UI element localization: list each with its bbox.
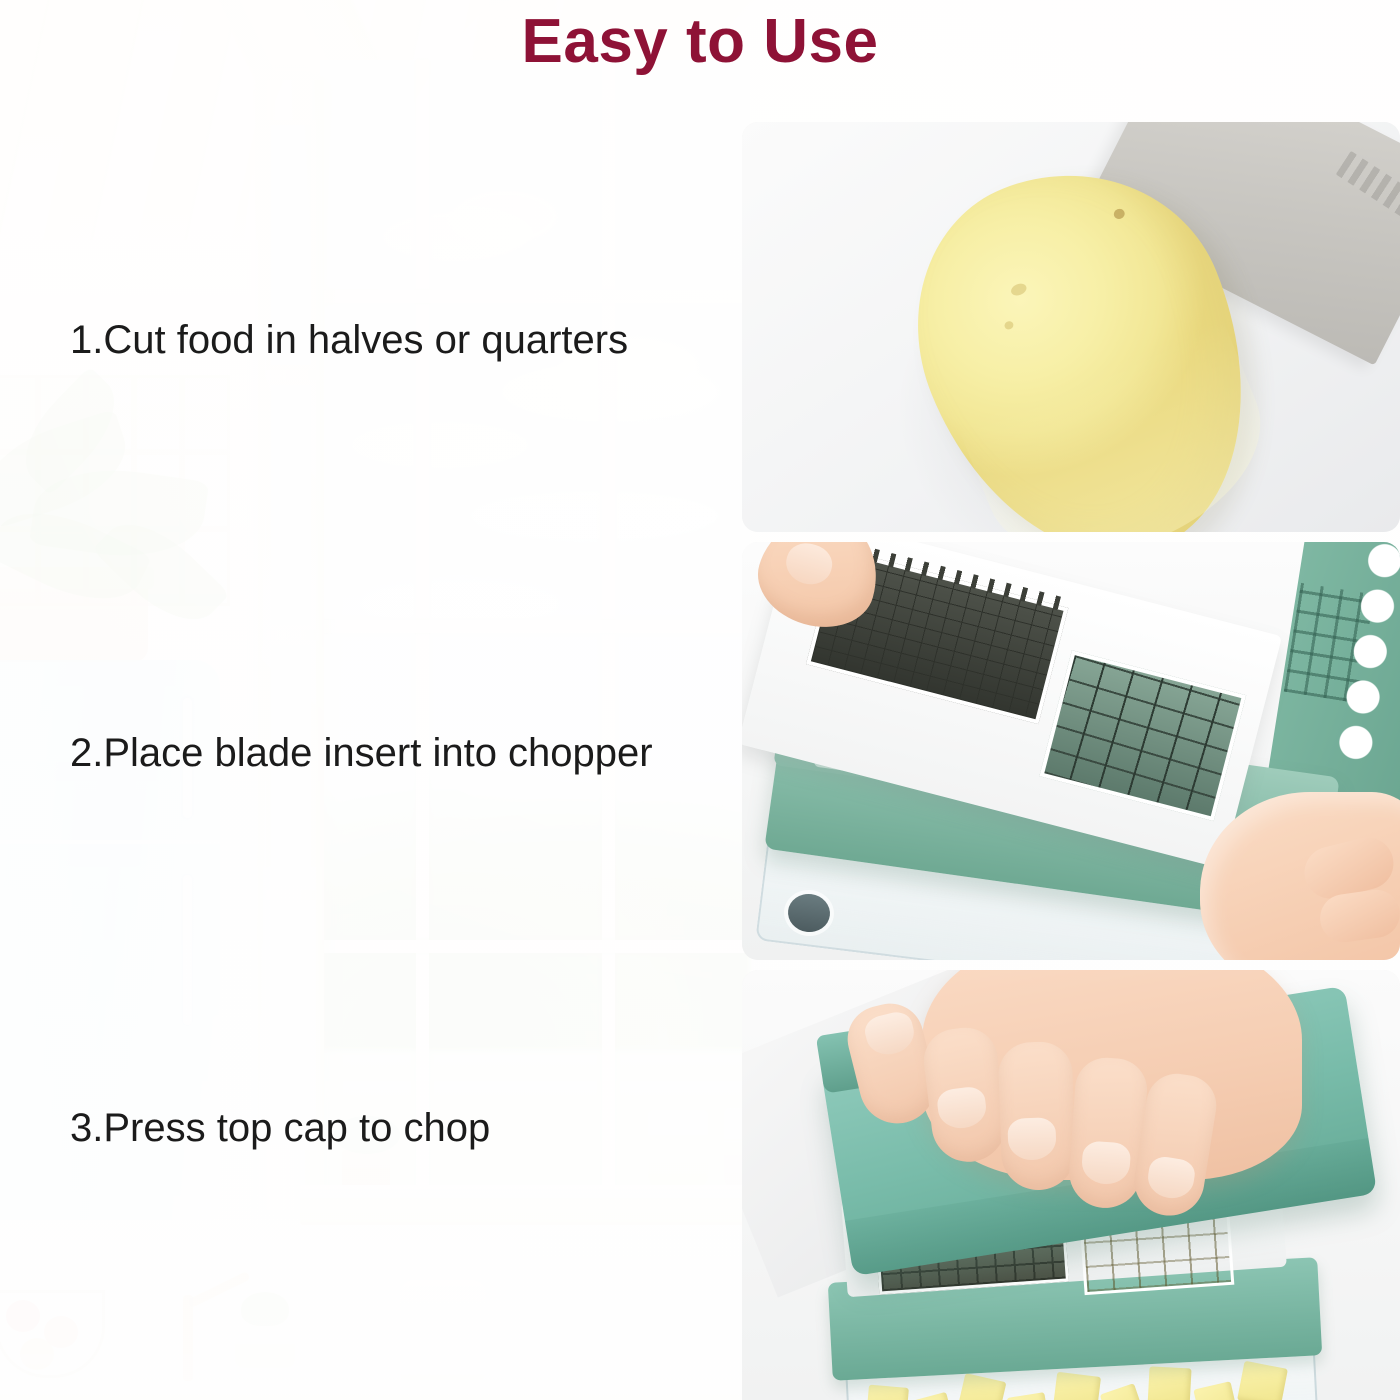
- diced-potato-cube: [865, 1385, 909, 1400]
- diced-potato-cube: [1193, 1381, 1239, 1400]
- diced-potato-cube: [1007, 1392, 1051, 1400]
- step-1-label: 1.Cut food in halves or quarters: [70, 318, 628, 363]
- infographic-content: Easy to Use 1.Cut food in halves or quar…: [0, 0, 1400, 1400]
- finger: [997, 1041, 1076, 1191]
- diced-potato-cube: [957, 1373, 1006, 1400]
- diced-potato-cube: [1148, 1366, 1192, 1400]
- potato-eye: [1112, 208, 1126, 221]
- coarse-dicing-blade-grid: [1039, 650, 1246, 821]
- step-2-photo: [742, 542, 1400, 960]
- diced-potato-cube: [1100, 1383, 1148, 1400]
- page-title: Easy to Use: [0, 6, 1400, 77]
- step-2-label: 2.Place blade insert into chopper: [70, 731, 653, 776]
- diced-potato-cube: [911, 1392, 956, 1400]
- diced-potato-cube: [1237, 1361, 1288, 1400]
- step-3-label: 3.Press top cap to chop: [70, 1106, 490, 1151]
- potato-eye: [1003, 320, 1014, 331]
- diced-potato-cube: [1052, 1372, 1101, 1400]
- step-3-photo: [742, 970, 1400, 1400]
- step-1-photo: [742, 122, 1400, 532]
- potato-eye: [1009, 281, 1028, 297]
